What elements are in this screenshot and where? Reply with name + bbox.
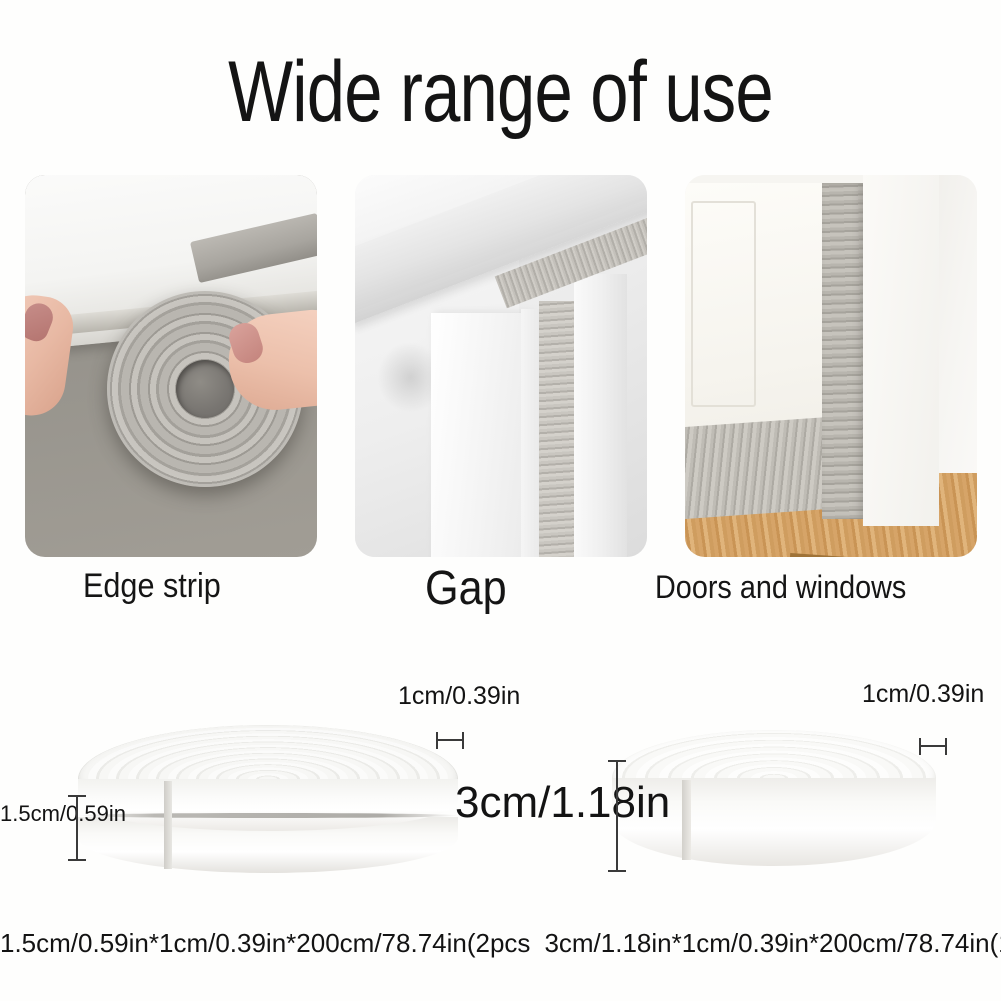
panel-caption-row: Edge strip Gap Doors and windows: [25, 563, 977, 621]
foam-coil-core: [176, 360, 234, 418]
caliper-left-width-tick-start: [436, 732, 438, 749]
spec-double-roll: 1.5cm/0.59in*1cm/0.39in*200cm/78.74in(2p…: [0, 928, 530, 959]
caliper-left-width-tick-end: [462, 732, 464, 749]
caliper-right-width-bar: [919, 745, 947, 747]
roll-stack-seam: [78, 813, 458, 818]
usage-panel-edge-strip: [25, 175, 317, 557]
dimension-label-right-width: 1cm/0.39in: [862, 680, 984, 709]
caption-gap: Gap: [425, 561, 507, 616]
usage-panel-row: [25, 175, 977, 557]
usage-panel-gap: [355, 175, 647, 557]
roll-cut-end-upper: [164, 781, 172, 825]
caliper-right-width-tick-start: [919, 738, 921, 755]
caliper-left-thickness-tick-top: [68, 795, 86, 797]
door-frame-behind: [863, 175, 939, 526]
dimension-label-right-thickness: 3cm/1.18in: [455, 778, 670, 828]
caliper-left-thickness-bar: [76, 795, 78, 861]
page-title: Wide range of use: [100, 44, 901, 140]
roll-cut-end-lower: [164, 821, 172, 869]
caliper-right-thickness-tick-top: [608, 760, 626, 762]
dimension-label-left-width: 1cm/0.39in: [398, 682, 520, 711]
caliper-left-width-bar: [436, 739, 464, 741]
product-infographic: Wide range of use: [0, 0, 1001, 1001]
dimension-label-left-thickness: 1.5cm/0.59in: [0, 801, 126, 827]
spec-single-roll: 3cm/1.18in*1cm/0.39in*200cm/78.74in(1pcs…: [544, 928, 1001, 959]
roll-cut-end: [682, 780, 691, 860]
usage-panel-doors-windows: [685, 175, 977, 557]
product-double-roll-stack: [78, 725, 458, 870]
caliper-right-thickness-tick-bottom: [608, 870, 626, 872]
caliper-right-width-tick-end: [945, 738, 947, 755]
foam-seal-door-edge: [822, 183, 863, 519]
caption-doors-and-windows: Doors and windows: [655, 569, 906, 606]
caliper-right-thickness-bar: [616, 760, 618, 872]
door-jamb-right: [574, 274, 627, 557]
door-leaf: [431, 313, 530, 557]
door-panel-moulding: [691, 201, 756, 408]
caliper-left-thickness-tick-bottom: [68, 859, 86, 861]
caption-edge-strip: Edge strip: [83, 567, 221, 606]
foam-seal-vertical: [539, 301, 574, 557]
specification-line: 1.5cm/0.59in*1cm/0.39in*200cm/78.74in(2p…: [0, 928, 1001, 959]
